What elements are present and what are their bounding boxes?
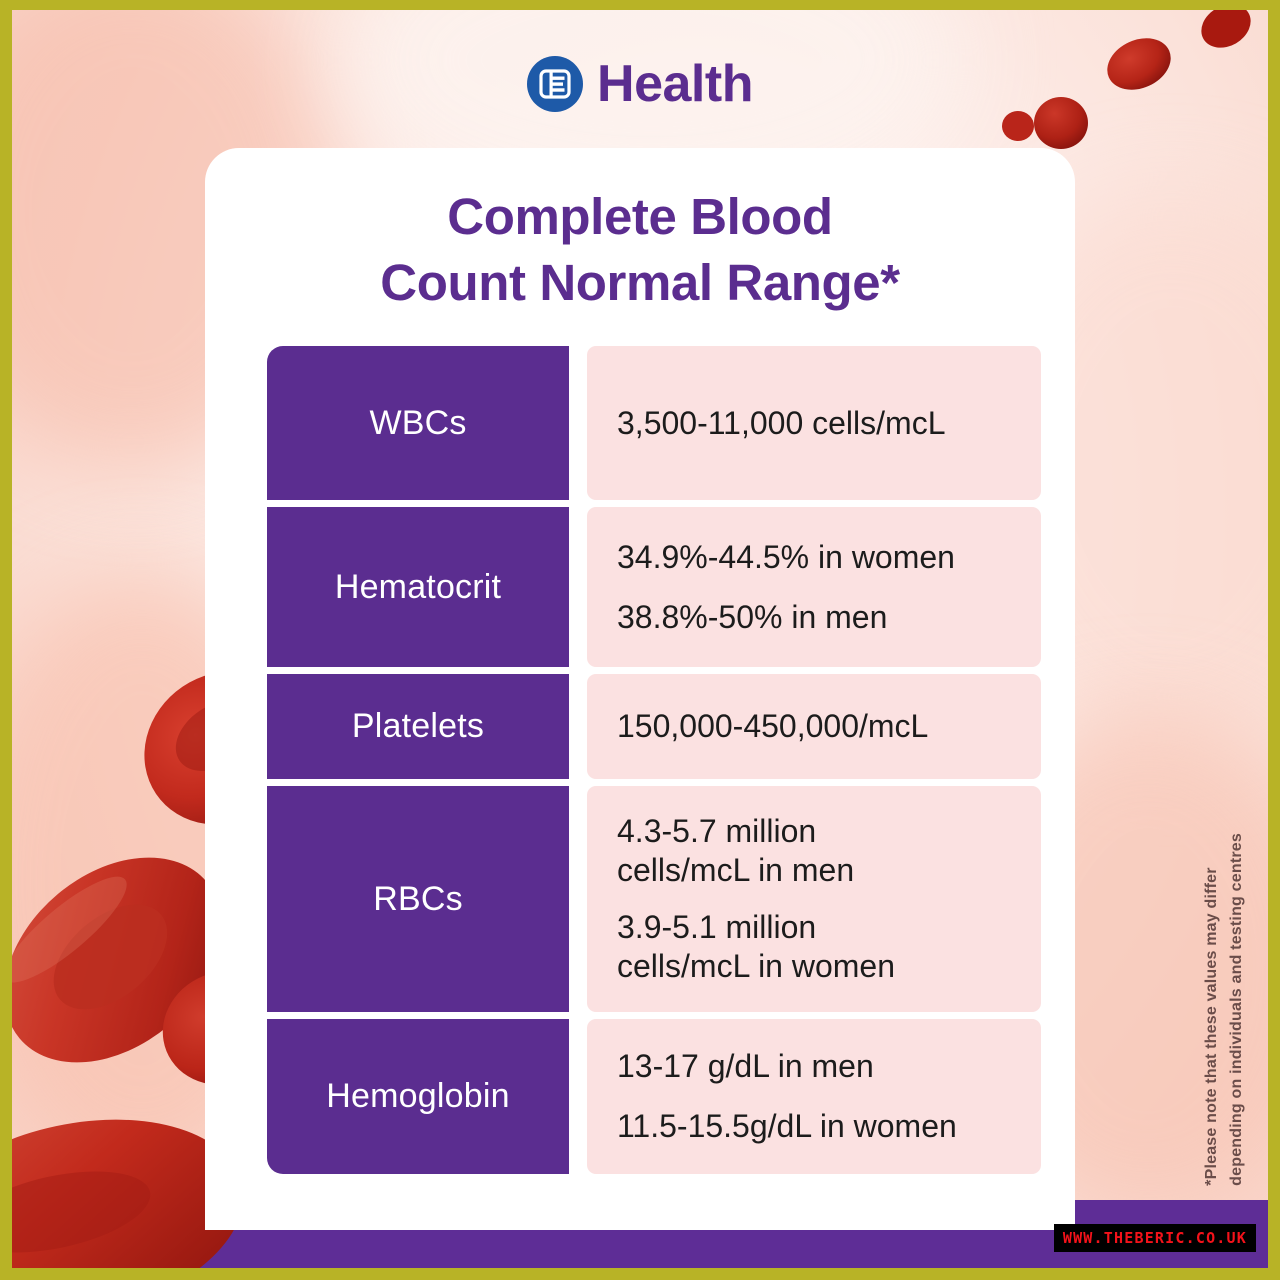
value-line: 11.5-15.5g/dL in women [617, 1105, 1027, 1148]
value-line: 13-17 g/dL in men [617, 1045, 1027, 1088]
table-row: Platelets 150,000-450,000/mcL [267, 674, 1041, 779]
table-row: WBCs 3,500-11,000 cells/mcL [267, 346, 1041, 500]
value-line: 3.9-5.1 million [617, 908, 1027, 947]
watermark-text: WWW.THEBERIC.CO.UK [1063, 1229, 1247, 1247]
value-line: 34.9%-44.5% in women [617, 536, 1027, 579]
red-blood-cell-icon [1198, 10, 1254, 56]
brand-name: Health [597, 58, 753, 110]
title-line-1: Complete Blood [231, 184, 1049, 250]
value-line: 150,000-450,000/mcL [617, 705, 1027, 748]
row-value: 4.3-5.7 million cells/mcL in men 3.9-5.1… [587, 786, 1041, 1012]
brand-logo: Health [12, 56, 1268, 112]
row-value: 150,000-450,000/mcL [587, 674, 1041, 779]
watermark: WWW.THEBERIC.CO.UK [1054, 1224, 1256, 1252]
row-label: Hemoglobin [267, 1019, 569, 1174]
row-value: 13-17 g/dL in men 11.5-15.5g/dL in women [587, 1019, 1041, 1174]
disclaimer-note: *Please note that these values may diffe… [1200, 833, 1250, 1186]
row-label: WBCs [267, 346, 569, 500]
row-value: 3,500-11,000 cells/mcL [587, 346, 1041, 500]
page-title: Complete Blood Count Normal Range* [205, 184, 1075, 317]
cbc-range-table: WBCs 3,500-11,000 cells/mcL Hematocrit 3… [267, 346, 1041, 1174]
value-line: 38.8%-50% in men [617, 596, 1027, 639]
value-line: cells/mcL in men [617, 851, 1027, 890]
table-row: Hemoglobin 13-17 g/dL in men 11.5-15.5g/… [267, 1019, 1041, 1174]
disclaimer-line-2: depending on individuals and testing cen… [1225, 833, 1250, 1186]
title-line-2: Count Normal Range* [231, 250, 1049, 316]
value-line: cells/mcL in women [617, 947, 1027, 986]
row-value: 34.9%-44.5% in women 38.8%-50% in men [587, 507, 1041, 667]
poster: Health Complete Blood Count Normal Range… [0, 0, 1280, 1280]
bajaj-b-circle-icon [527, 56, 583, 112]
content-card: Complete Blood Count Normal Range* WBCs … [205, 148, 1075, 1230]
value-line: 4.3-5.7 million [617, 812, 1027, 851]
row-label: RBCs [267, 786, 569, 1012]
row-label: Hematocrit [267, 507, 569, 667]
poster-canvas: Health Complete Blood Count Normal Range… [12, 10, 1268, 1268]
disclaimer-line-1: *Please note that these values may diffe… [1200, 833, 1225, 1186]
table-row: RBCs 4.3-5.7 million cells/mcL in men 3.… [267, 786, 1041, 1012]
row-label: Platelets [267, 674, 569, 779]
table-row: Hematocrit 34.9%-44.5% in women 38.8%-50… [267, 507, 1041, 667]
value-line: 3,500-11,000 cells/mcL [617, 402, 1027, 445]
red-blood-cell-icon [998, 106, 1038, 146]
